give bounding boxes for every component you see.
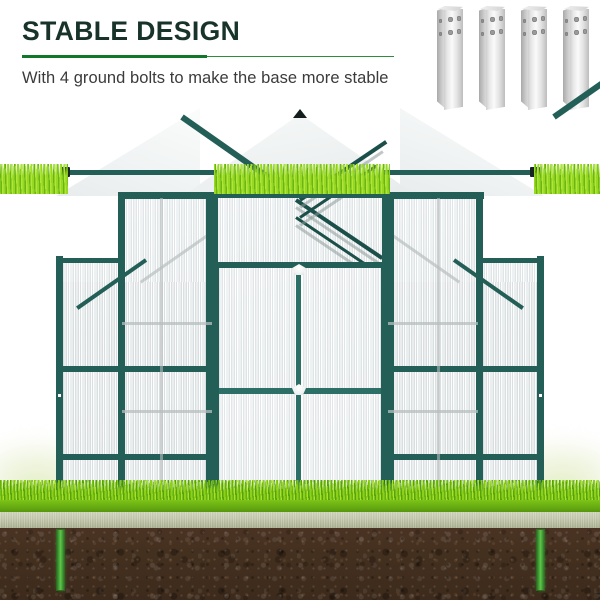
header-block: STABLE DESIGN With 4 ground bolts to mak… bbox=[22, 18, 442, 88]
bolt-hole bbox=[490, 30, 495, 35]
grass-tuft-doorway bbox=[214, 164, 390, 194]
bolt-hole bbox=[499, 29, 504, 34]
ground-bolt-2 bbox=[479, 6, 505, 110]
ridge-cap bbox=[293, 109, 307, 118]
bolt-hole bbox=[448, 17, 453, 22]
bolt-hole bbox=[574, 17, 579, 22]
bolt-front-flange bbox=[444, 6, 463, 110]
inner-rail-right-2 bbox=[386, 410, 478, 413]
bolt-hole bbox=[457, 16, 462, 21]
bolt-side-flange bbox=[563, 8, 571, 109]
grass-tuft-far-right bbox=[534, 164, 600, 194]
soil-texture bbox=[0, 528, 600, 600]
post-pin-left bbox=[58, 394, 61, 397]
inner-mullion-right bbox=[437, 198, 440, 528]
bolt-hole bbox=[448, 30, 453, 35]
bolt-hole bbox=[457, 29, 462, 34]
page-title: STABLE DESIGN bbox=[22, 18, 442, 46]
rail-left-top-short bbox=[56, 258, 118, 263]
rail-left-lower bbox=[56, 454, 214, 460]
bolt-side-flange bbox=[437, 8, 445, 109]
post-pin-right bbox=[539, 394, 542, 397]
vent-frame-left bbox=[212, 192, 218, 268]
ground-bolt-set bbox=[437, 6, 592, 110]
rail-right-lower bbox=[386, 454, 544, 460]
ground-bolt-3 bbox=[521, 6, 547, 110]
eave-bar-right bbox=[382, 170, 538, 175]
bolt-hole bbox=[541, 29, 546, 34]
bolt-side-flange bbox=[479, 8, 487, 109]
bolt-hole bbox=[574, 30, 579, 35]
post-right-inner bbox=[476, 192, 483, 528]
door-left-upper-panel[interactable] bbox=[218, 268, 298, 390]
bolt-hole bbox=[541, 16, 546, 21]
grass-tuft-far-left bbox=[0, 164, 68, 194]
bolt-hole bbox=[532, 30, 537, 35]
divider-accent-line bbox=[22, 55, 207, 58]
inner-rail-left-1 bbox=[122, 322, 214, 325]
door-assembly[interactable] bbox=[212, 192, 388, 528]
door-right-upper-panel[interactable] bbox=[302, 268, 382, 390]
product-feature-banner: STABLE DESIGN With 4 ground bolts to mak… bbox=[0, 0, 600, 600]
roof-slope-right bbox=[400, 108, 544, 196]
bolt-hole bbox=[490, 17, 495, 22]
bolt-front-flange bbox=[528, 6, 547, 110]
bolt-side-flange bbox=[521, 8, 529, 109]
rail-left-upper bbox=[56, 366, 214, 372]
inner-mullion-left bbox=[160, 198, 163, 528]
title-divider bbox=[22, 55, 394, 58]
bolt-front-flange bbox=[486, 6, 505, 110]
vent-frame-right bbox=[382, 192, 388, 268]
ground-bolt-1 bbox=[437, 6, 463, 110]
inner-rail-right-1 bbox=[386, 322, 478, 325]
bolt-hole bbox=[583, 16, 588, 21]
rail-right-upper bbox=[386, 366, 544, 372]
bolt-hole bbox=[499, 16, 504, 21]
post-left-inner bbox=[118, 192, 125, 528]
greenhouse-scene bbox=[0, 108, 600, 600]
soil-cross-section bbox=[0, 528, 600, 600]
bolt-hole bbox=[532, 17, 537, 22]
roof-slope-left bbox=[56, 108, 200, 196]
bolt-hole bbox=[583, 29, 588, 34]
rail-right-top-short bbox=[482, 258, 544, 263]
buried-anchor-right bbox=[537, 530, 544, 590]
inner-rail-left-2 bbox=[122, 410, 214, 413]
buried-anchor-left bbox=[57, 530, 64, 590]
eave-bar-left bbox=[62, 170, 218, 175]
page-subtitle: With 4 ground bolts to make the base mor… bbox=[22, 69, 442, 88]
